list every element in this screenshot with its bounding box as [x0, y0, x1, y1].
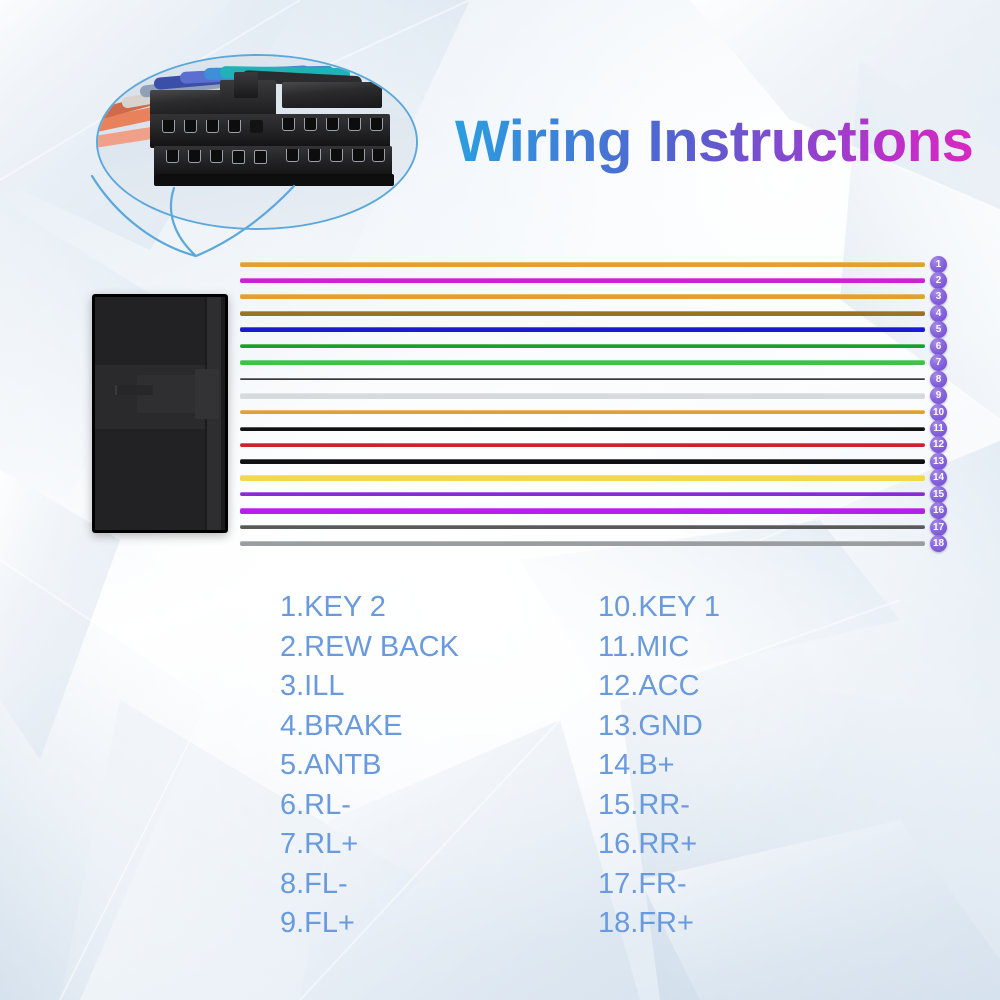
wire-6 [240, 344, 925, 348]
legend-item-left-9: 9.FL+ [280, 904, 459, 944]
legend-item-right-8: 17.FR- [598, 865, 720, 905]
wire-7 [240, 360, 925, 365]
wire-18 [240, 541, 925, 546]
legend-item-left-3: 3.ILL [280, 667, 459, 707]
wire-number-badge-1: 1 [930, 256, 947, 273]
wire-number-badge-5: 5 [930, 321, 947, 338]
wire-11 [240, 427, 925, 431]
wire-4 [240, 311, 925, 316]
wire-10 [240, 410, 925, 414]
wire-14 [240, 475, 925, 481]
wire-13 [240, 459, 925, 464]
wire-1 [240, 262, 925, 267]
legend-item-right-3: 12.ACC [598, 667, 720, 707]
pin-legend-left-column: 1.KEY 22.REW BACK3.ILL4.BRAKE5.ANTB6.RL-… [280, 588, 459, 944]
wire-5 [240, 327, 925, 332]
wire-number-badge-13: 13 [930, 453, 947, 470]
wire-number-badge-12: 12 [930, 436, 947, 453]
wire-number-badge-2: 2 [930, 272, 947, 289]
wire-number-badge-17: 17 [930, 519, 947, 536]
legend-item-right-2: 11.MIC [598, 628, 720, 668]
legend-item-left-6: 6.RL- [280, 786, 459, 826]
wire-number-badge-14: 14 [930, 469, 947, 486]
wire-number-badge-8: 8 [930, 371, 947, 388]
legend-item-left-7: 7.RL+ [280, 825, 459, 865]
legend-item-right-9: 18.FR+ [598, 904, 720, 944]
wire-number-badge-9: 9 [930, 387, 947, 404]
legend-item-right-1: 10.KEY 1 [598, 588, 720, 628]
wire-3 [240, 294, 925, 299]
legend-item-right-4: 13.GND [598, 707, 720, 747]
wire-8 [240, 378, 925, 380]
wire-17 [240, 525, 925, 529]
wire-number-badge-10: 10 [930, 404, 947, 421]
wire-number-badge-15: 15 [930, 486, 947, 503]
legend-item-left-2: 2.REW BACK [280, 628, 459, 668]
legend-item-right-5: 14.B+ [598, 746, 720, 786]
legend-item-left-4: 4.BRAKE [280, 707, 459, 747]
wire-number-badge-6: 6 [930, 338, 947, 355]
wire-number-badge-3: 3 [930, 288, 947, 305]
wire-harness-diagram: 123456789101112131415161718 [0, 0, 1000, 1000]
wire-number-badge-18: 18 [930, 535, 947, 552]
legend-item-right-6: 15.RR- [598, 786, 720, 826]
wire-number-badge-16: 16 [930, 502, 947, 519]
wire-16 [240, 508, 925, 514]
wire-9 [240, 393, 925, 399]
pin-legend-right-column: 10.KEY 111.MIC12.ACC13.GND14.B+15.RR-16.… [598, 588, 720, 944]
legend-item-left-5: 5.ANTB [280, 746, 459, 786]
wiring-instructions-page: Wiring Instructions [0, 0, 1000, 1000]
legend-item-left-1: 1.KEY 2 [280, 588, 459, 628]
wire-2 [240, 278, 925, 283]
wire-number-badge-7: 7 [930, 354, 947, 371]
legend-item-left-8: 8.FL- [280, 865, 459, 905]
wire-12 [240, 443, 925, 447]
legend-item-right-7: 16.RR+ [598, 825, 720, 865]
wire-15 [240, 492, 925, 496]
wire-number-badge-11: 11 [930, 420, 947, 437]
wire-number-badge-4: 4 [930, 305, 947, 322]
